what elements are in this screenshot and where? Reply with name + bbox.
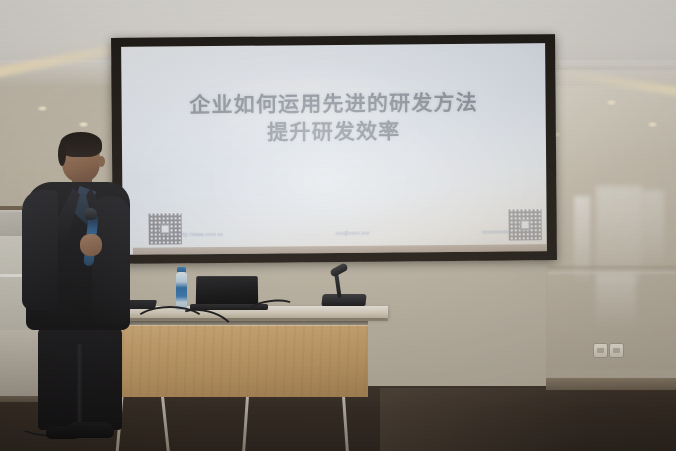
ceiling-downlight (79, 122, 88, 127)
floor-reflection (380, 388, 676, 451)
presenter (20, 130, 138, 440)
presenter-hair (60, 132, 102, 157)
water-bottle[interactable] (176, 272, 187, 310)
screen-vignette (121, 43, 547, 255)
power-outlet[interactable] (610, 344, 623, 357)
gooseneck-microphone-base[interactable] (321, 294, 366, 306)
presenter-arm (92, 196, 130, 324)
microphone-head (84, 208, 97, 220)
wall-reflection (596, 274, 636, 330)
ceiling-downlight (648, 122, 657, 127)
presenter-hair-side (58, 142, 66, 166)
wall-reflection-band (548, 266, 676, 274)
projection-screen: 企业如何运用先进的研发方法 提升研发效率 http://www.xxxx.xx … (111, 34, 557, 264)
presenter-ear (98, 156, 105, 167)
ceiling-downlight (38, 106, 47, 111)
presenter-leg-seam (78, 344, 81, 426)
presenter-shoulder (22, 190, 58, 310)
presenter-shoe (68, 422, 114, 438)
ceiling-downlight (607, 100, 616, 105)
wall-reflection (642, 190, 664, 270)
projected-slide: 企业如何运用先进的研发方法 提升研发效率 http://www.xxxx.xx … (121, 43, 547, 255)
power-outlet[interactable] (594, 344, 607, 357)
presentation-photograph: 企业如何运用先进的研发方法 提升研发效率 http://www.xxxx.xx … (0, 0, 676, 451)
baseboard (546, 378, 676, 390)
presenter-hand (80, 234, 102, 256)
